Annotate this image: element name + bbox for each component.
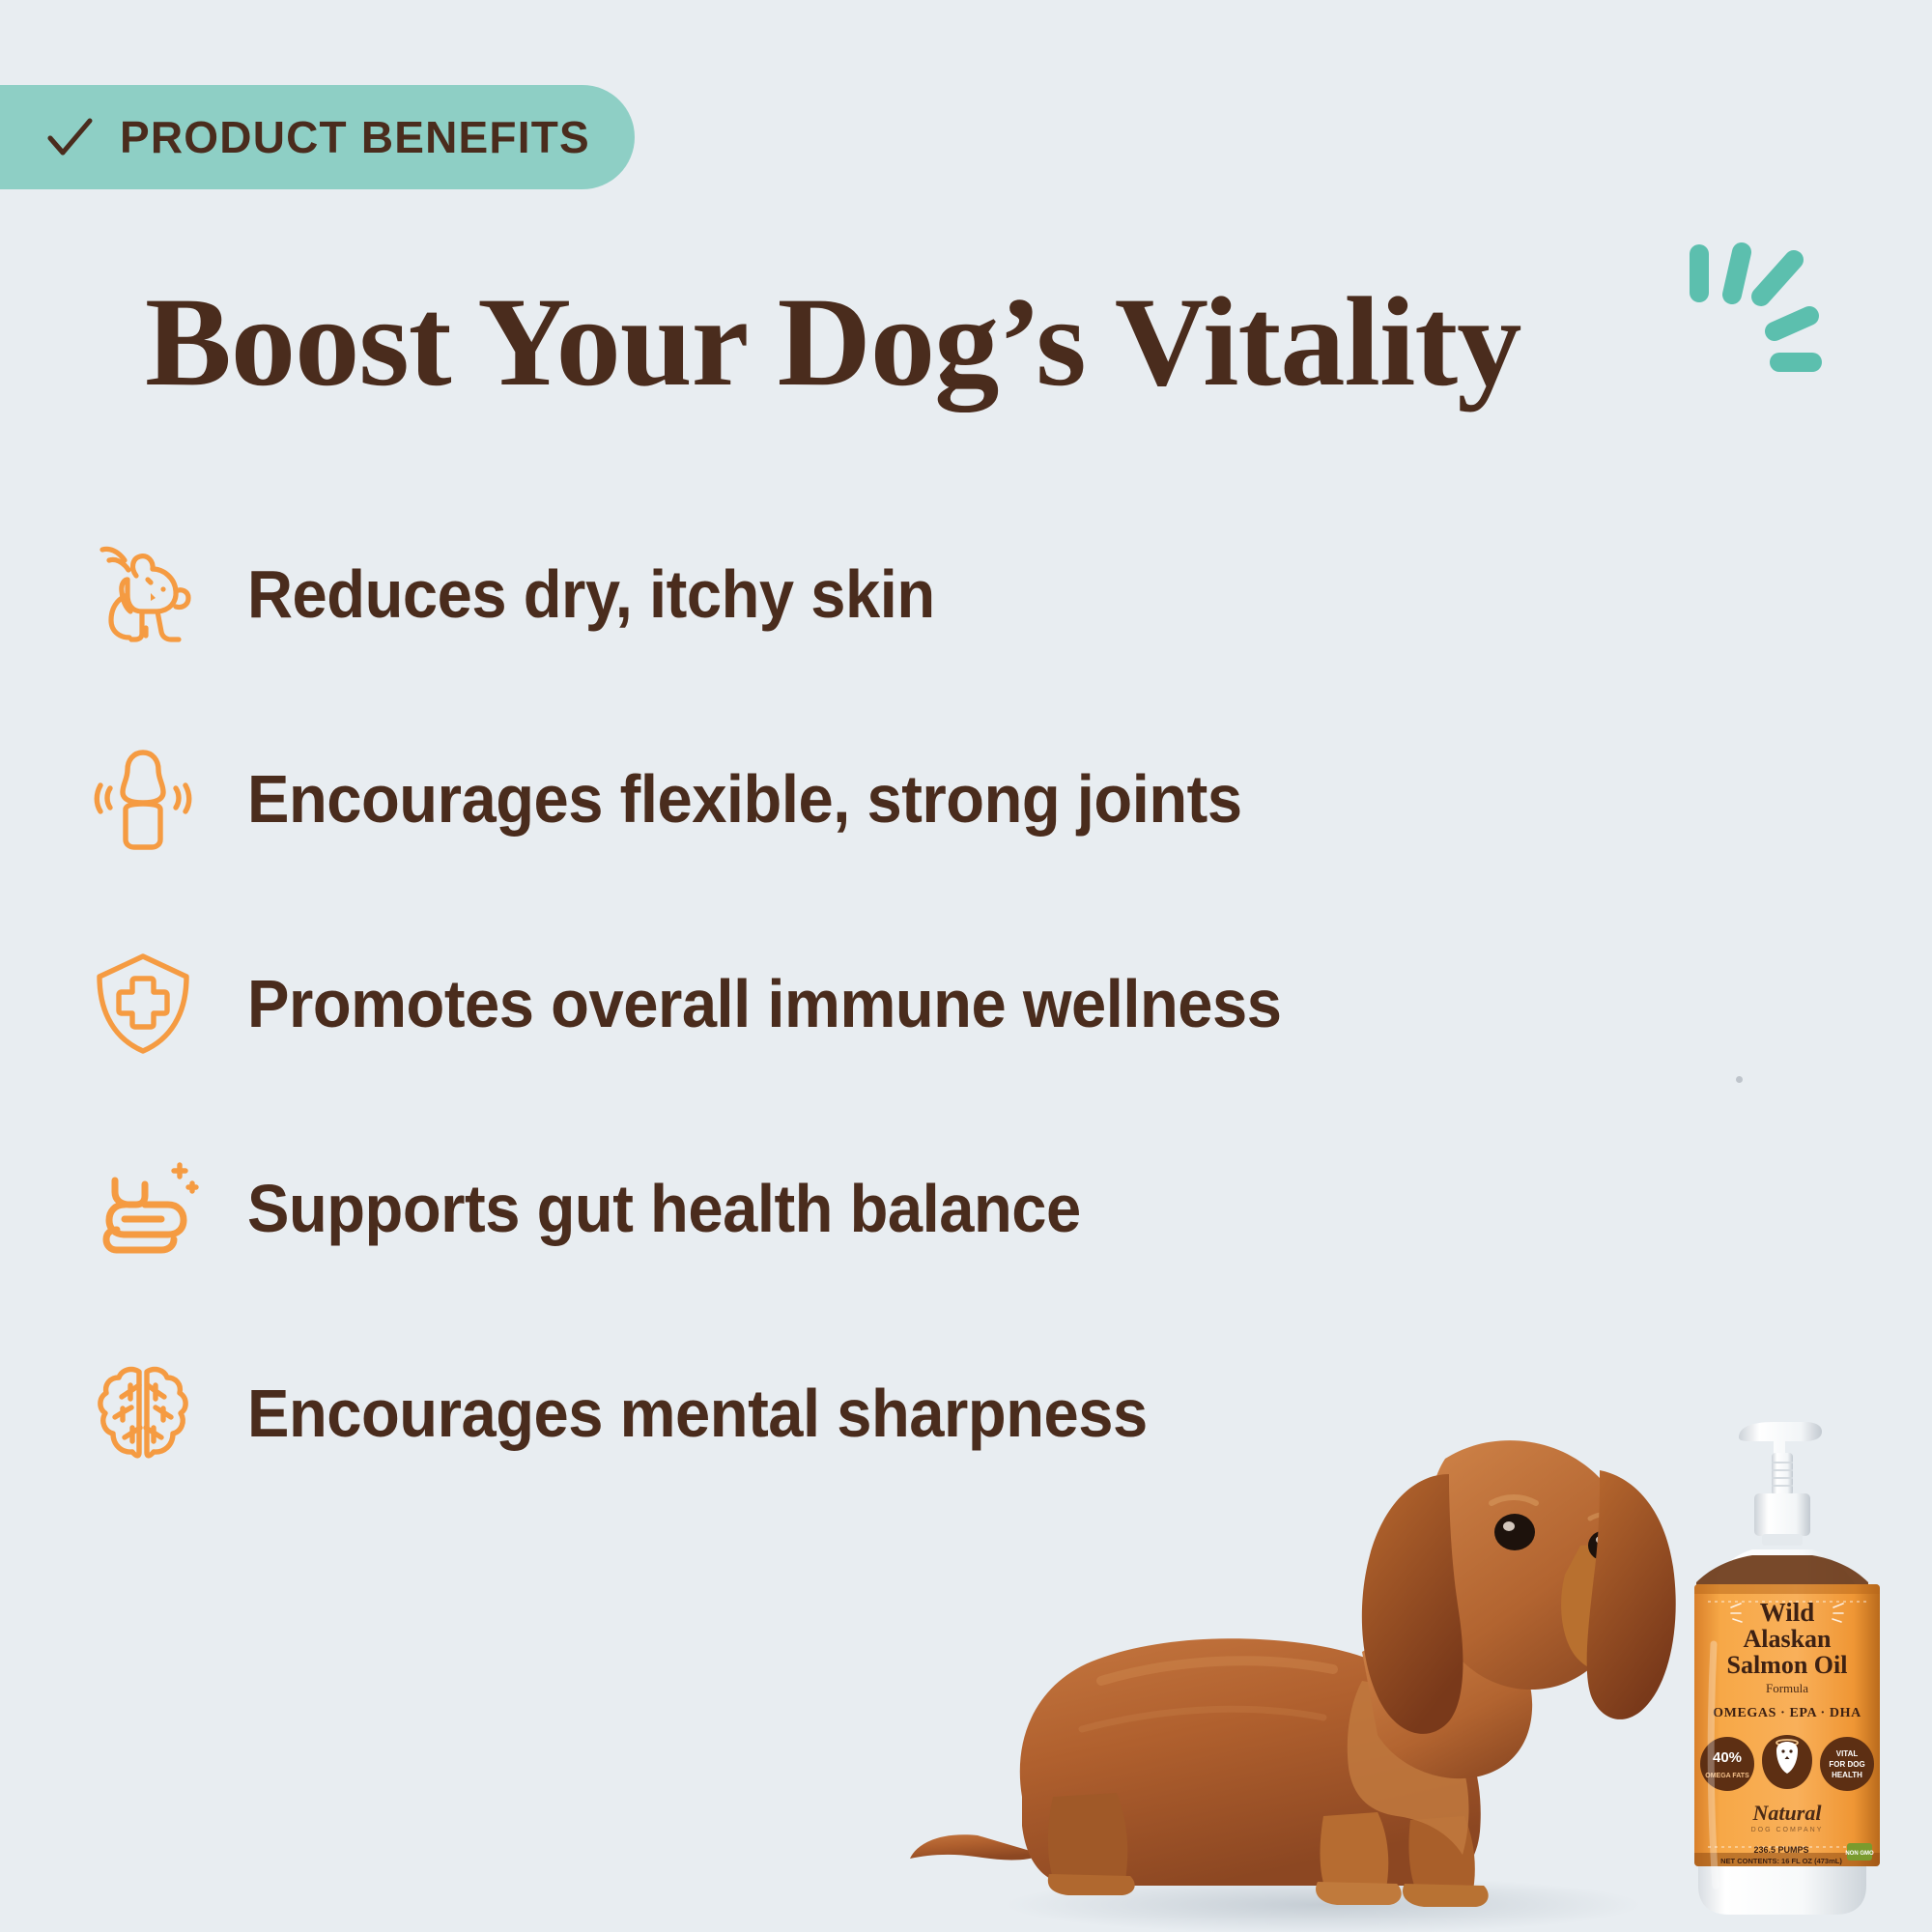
bottle-title-line2: Alaskan (1743, 1625, 1832, 1653)
bottle-badge-percent: 40% (1713, 1749, 1742, 1766)
product-benefits-badge: PRODUCT BENEFITS (0, 85, 635, 189)
benefit-label: Encourages flexible, strong joints (247, 760, 1242, 838)
bottle-subtitle: Formula (1766, 1681, 1808, 1695)
bottle-net-contents: NET CONTENTS: 16 FL OZ (473mL) (1720, 1857, 1842, 1865)
svg-text:HEALTH: HEALTH (1832, 1771, 1862, 1779)
dog-scratching-icon (75, 537, 211, 651)
badge-label: PRODUCT BENEFITS (120, 111, 590, 163)
check-icon (44, 112, 95, 162)
bottle-title-line3: Salmon Oil (1727, 1651, 1848, 1679)
svg-text:FOR DOG: FOR DOG (1829, 1760, 1864, 1769)
headline-container: Boost Your Dog’s Vitality (145, 278, 1494, 406)
shield-cross-icon (75, 947, 211, 1061)
benefit-label: Promotes overall immune wellness (247, 965, 1282, 1042)
bottle-ingredients: OMEGAS · EPA · DHA (1713, 1706, 1861, 1720)
dachshund-dog-photo (908, 1256, 1777, 1932)
bottle-title-line1: Wild (1760, 1598, 1815, 1627)
brain-icon (75, 1356, 211, 1470)
svg-text:VITAL: VITAL (1836, 1749, 1859, 1758)
bottle-pumps: 236.5 PUMPS (1753, 1845, 1808, 1855)
joint-bone-icon (75, 742, 211, 856)
background-speck (1736, 1076, 1743, 1083)
page-title: Boost Your Dog’s Vitality (145, 278, 1520, 406)
bottle-brand-sub: DOG COMPANY (1751, 1827, 1824, 1833)
benefit-row: Promotes overall immune wellness (75, 931, 1447, 1076)
benefit-row: Encourages flexible, strong joints (75, 726, 1447, 871)
bottle-seal: NON GMO (1845, 1851, 1874, 1857)
intestine-icon (75, 1151, 211, 1265)
benefit-row: Reduces dry, itchy skin (75, 522, 1447, 667)
salmon-oil-bottle: Wild Alaskan Salmon Oil Formula OMEGAS ·… (1681, 1403, 1893, 1924)
product-scene: Wild Alaskan Salmon Oil Formula OMEGAS ·… (908, 1198, 1932, 1932)
benefit-label: Reduces dry, itchy skin (247, 555, 935, 633)
bottle-brand: Natural (1752, 1801, 1823, 1825)
sparkle-burst-icon (1686, 237, 1908, 430)
